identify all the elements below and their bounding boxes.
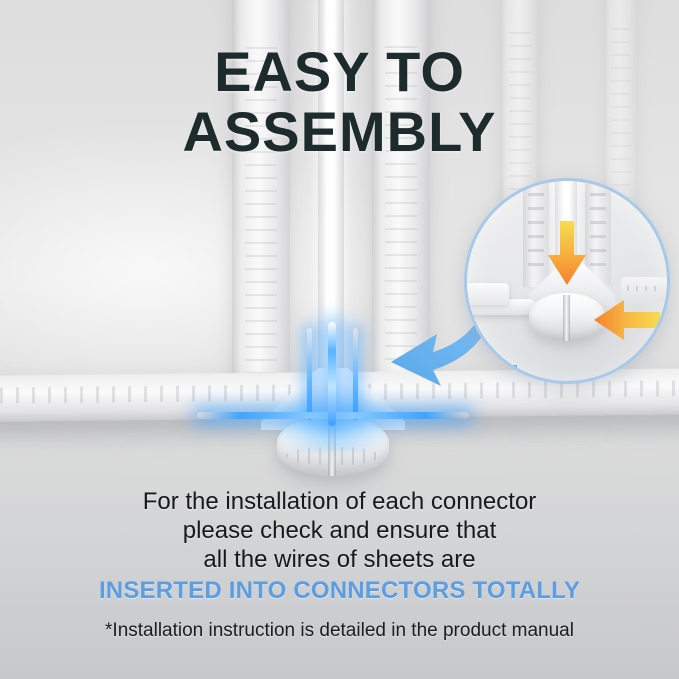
instruction-line-1: For the installation of each connector bbox=[0, 487, 679, 516]
instruction-emphasis: INSERTED INTO CONNECTORS TOTALLY bbox=[0, 574, 679, 608]
instruction-text: For the installation of each connector p… bbox=[0, 487, 679, 608]
headline-line-2: ASSEMBLY bbox=[0, 102, 679, 162]
instruction-line-3: all the wires of sheets are bbox=[0, 545, 679, 574]
connector-glow-vertical bbox=[328, 322, 336, 426]
insert-left-arrow bbox=[593, 299, 661, 341]
insert-down-arrow bbox=[547, 221, 587, 287]
magnifier-circle-inset bbox=[464, 178, 670, 384]
inset-connector-slot bbox=[563, 295, 570, 341]
connector-glow-beam-left bbox=[307, 328, 312, 420]
inset-side-tab-left bbox=[464, 283, 509, 305]
footnote-text: *Installation instruction is detailed in… bbox=[0, 620, 679, 642]
inset-side-tab-right bbox=[621, 277, 669, 301]
instruction-line-2: please check and ensure that bbox=[0, 516, 679, 545]
inset-ribbed-strip bbox=[585, 178, 611, 285]
connector-glow-beam-right bbox=[353, 328, 358, 420]
inset-blue-curve bbox=[464, 309, 517, 377]
inset-ribbed-strip bbox=[523, 178, 549, 287]
page-title: EASY TO ASSEMBLY bbox=[0, 42, 679, 162]
product-feature-image: EASY TO ASSEMBLY For the installation of… bbox=[0, 0, 679, 679]
headline-line-1: EASY TO bbox=[0, 42, 679, 102]
